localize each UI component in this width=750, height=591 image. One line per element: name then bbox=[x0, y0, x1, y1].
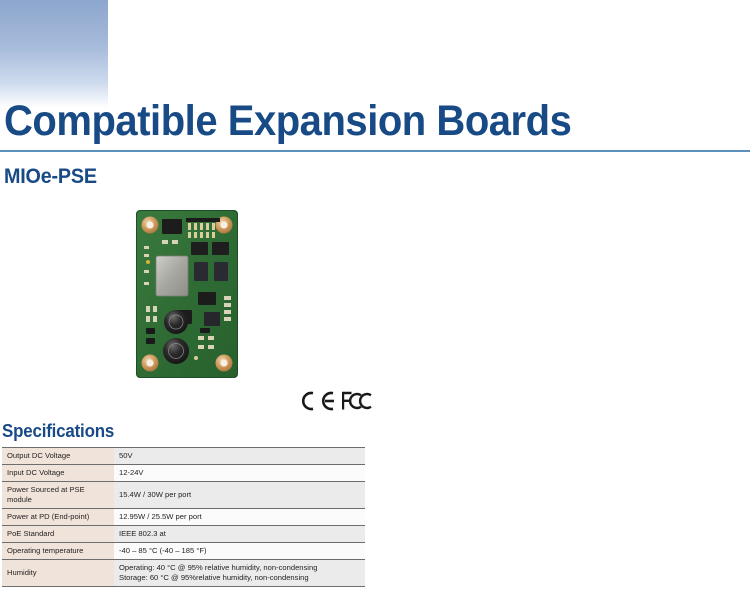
table-row: Power at PD (End-point) 12.95W / 25.5W p… bbox=[2, 509, 365, 526]
specifications-table-body: Output DC Voltage 50V Input DC Voltage 1… bbox=[2, 448, 365, 587]
specifications-table: Output DC Voltage 50V Input DC Voltage 1… bbox=[2, 447, 365, 587]
spec-value-line-1: Operating: 40 °C @ 95% relative humidity… bbox=[119, 563, 317, 572]
certification-marks bbox=[297, 391, 372, 411]
spec-value: 50V bbox=[114, 448, 365, 465]
spec-key: Output DC Voltage bbox=[2, 448, 114, 465]
spec-value: Operating: 40 °C @ 95% relative humidity… bbox=[114, 560, 365, 587]
specifications-heading: Specifications bbox=[2, 421, 114, 442]
spec-value: 12.95W / 25.5W per port bbox=[114, 509, 365, 526]
fcc-mark-icon bbox=[342, 391, 372, 411]
corner-gradient-decoration bbox=[0, 0, 108, 108]
title-divider-rule bbox=[0, 150, 750, 152]
product-board-image bbox=[136, 210, 238, 378]
spec-key: Power at PD (End-point) bbox=[2, 509, 114, 526]
spec-key: Power Sourced at PSE module bbox=[2, 482, 114, 509]
table-row: PoE Standard IEEE 802.3 at bbox=[2, 526, 365, 543]
ce-mark-icon bbox=[297, 391, 335, 411]
spec-value: 12-24V bbox=[114, 465, 365, 482]
spec-value: -40 – 85 °C (-40 – 185 °F) bbox=[114, 543, 365, 560]
table-row: Output DC Voltage 50V bbox=[2, 448, 365, 465]
model-name-heading: MIOe-PSE bbox=[4, 165, 97, 189]
spec-value: IEEE 802.3 at bbox=[114, 526, 365, 543]
spec-key: PoE Standard bbox=[2, 526, 114, 543]
table-row: Operating temperature -40 – 85 °C (-40 –… bbox=[2, 543, 365, 560]
spec-key: Input DC Voltage bbox=[2, 465, 114, 482]
table-row: Power Sourced at PSE module 15.4W / 30W … bbox=[2, 482, 365, 509]
spec-key: Operating temperature bbox=[2, 543, 114, 560]
spec-value-line-2: Storage: 60 °C @ 95%relative humidity, n… bbox=[119, 573, 361, 583]
spec-value: 15.4W / 30W per port bbox=[114, 482, 365, 509]
spec-key: Humidity bbox=[2, 560, 114, 587]
table-row: Input DC Voltage 12-24V bbox=[2, 465, 365, 482]
table-row: Humidity Operating: 40 °C @ 95% relative… bbox=[2, 560, 365, 587]
page-title: Compatible Expansion Boards bbox=[4, 97, 571, 145]
